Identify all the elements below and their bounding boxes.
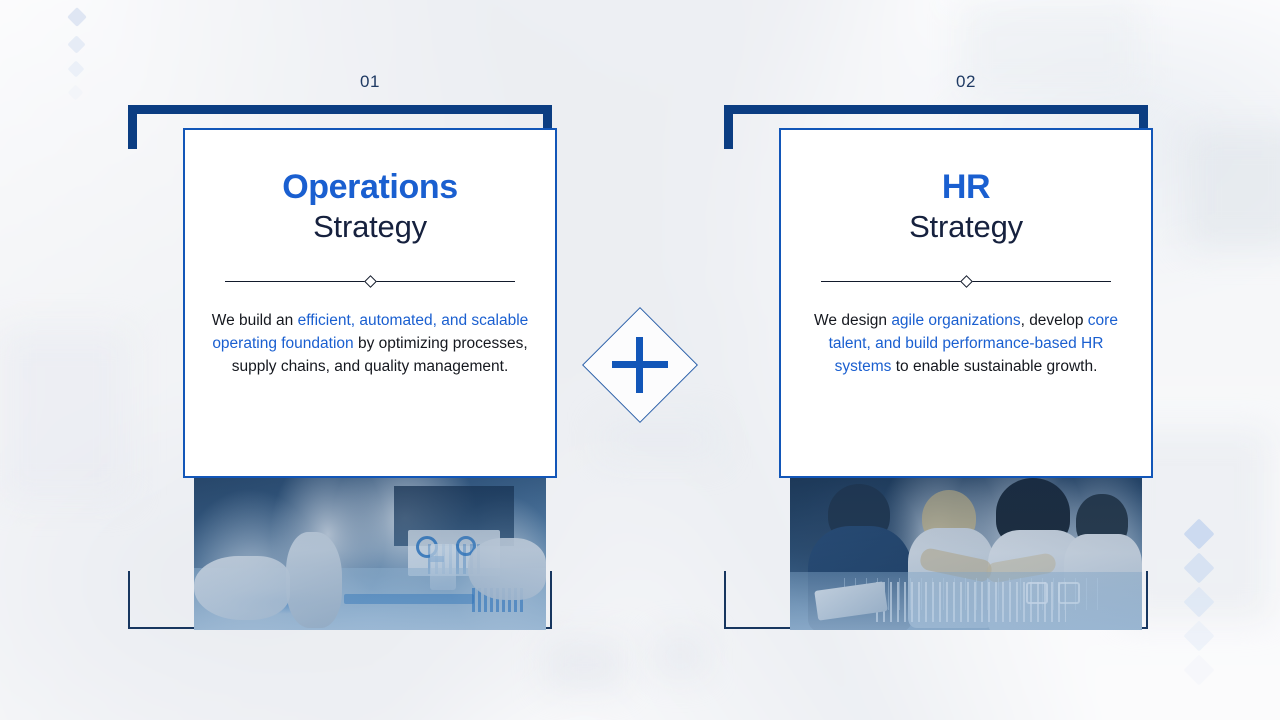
divider-diamond-icon bbox=[364, 275, 377, 288]
card-photo bbox=[790, 470, 1142, 630]
card-panel[interactable]: OperationsStrategyWe build an efficient,… bbox=[183, 128, 557, 478]
body-highlight: agile organizations bbox=[891, 312, 1020, 329]
card-bracket-frame: OperationsStrategyWe build an efficient,… bbox=[128, 105, 552, 629]
card-title-secondary: Strategy bbox=[211, 208, 529, 247]
card-title-primary: Operations bbox=[211, 168, 529, 206]
strategy-card-02: 02 HRStrategyWe design agile organizatio… bbox=[696, 0, 1236, 720]
body-plain: We build an bbox=[212, 312, 298, 329]
card-number-label: 02 bbox=[696, 72, 1236, 92]
card-title-primary: HR bbox=[807, 168, 1125, 206]
card-body-text: We build an efficient, automated, and sc… bbox=[211, 309, 529, 379]
card-bracket-frame: HRStrategyWe design agile organizations,… bbox=[724, 105, 1148, 629]
divider-diamond-icon bbox=[960, 275, 973, 288]
card-divider bbox=[225, 275, 515, 287]
body-plain: , develop bbox=[1021, 312, 1088, 329]
slide-canvas: 01 OperationsStrategyWe build an efficie… bbox=[0, 0, 1280, 720]
card-title-secondary: Strategy bbox=[807, 208, 1125, 247]
card-body-text: We design agile organizations, develop c… bbox=[807, 309, 1125, 379]
card-number-label: 01 bbox=[100, 72, 640, 92]
card-photo bbox=[194, 470, 546, 630]
card-panel[interactable]: HRStrategyWe design agile organizations,… bbox=[779, 128, 1153, 478]
plus-vertical-bar bbox=[636, 337, 643, 393]
strategy-card-01: 01 OperationsStrategyWe build an efficie… bbox=[100, 0, 640, 720]
body-plain: We design bbox=[814, 312, 891, 329]
plus-diamond-icon[interactable] bbox=[585, 310, 695, 420]
card-divider bbox=[821, 275, 1111, 287]
body-plain: to enable sustainable growth. bbox=[891, 358, 1097, 375]
